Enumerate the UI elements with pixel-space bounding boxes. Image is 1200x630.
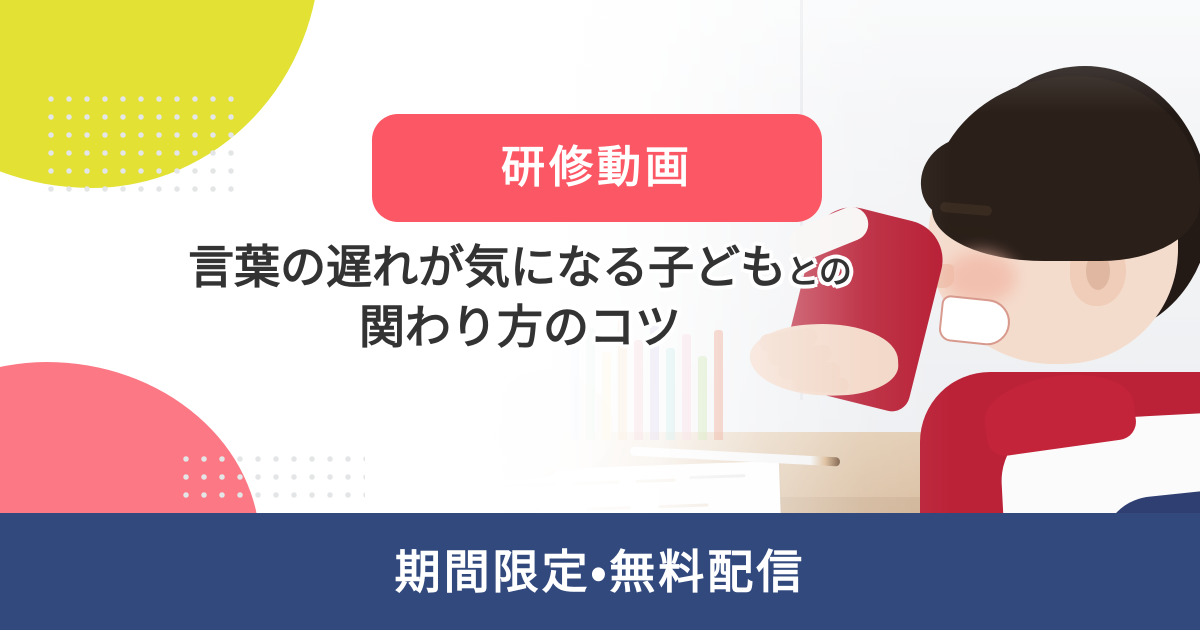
footer-bar: 期間限定・無料配信 [0,513,1200,630]
headline-line-1-tail: との [786,253,852,290]
category-badge: 研修動画 [372,114,822,222]
headline: 言葉の遅れが気になる子どもとの 関わり方のコツ [0,238,1040,358]
promo-banner: 研修動画 言葉の遅れが気になる子どもとの 関わり方のコツ 期間限定・無料配信 [0,0,1200,630]
dot-grid-bottom [175,448,365,510]
footer-label: 期間限定・無料配信 [395,549,806,595]
category-badge-label: 研修動画 [501,146,693,190]
headline-line-2: 関わり方のコツ [0,298,1040,358]
headline-line-1: 言葉の遅れが気になる子どもとの [0,238,1040,298]
headline-line-1-main: 言葉の遅れが気になる子ども [188,241,786,293]
dot-grid-top [40,88,240,200]
